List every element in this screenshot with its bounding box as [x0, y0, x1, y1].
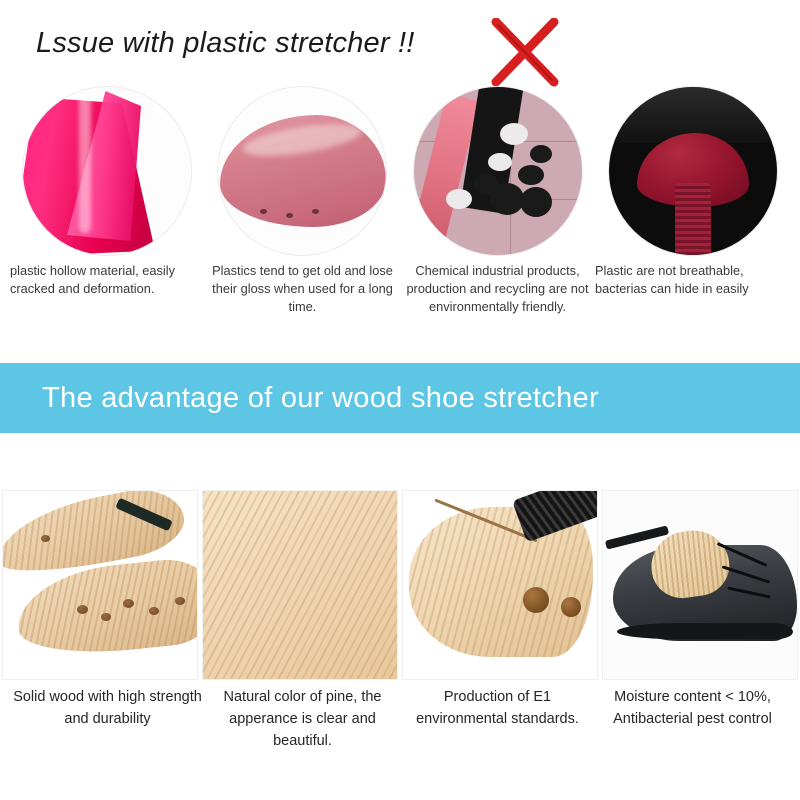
crimson-stretcher-in-shoe-photo — [608, 86, 778, 256]
wood-caption-3: Production of E1 environmental standards… — [400, 686, 595, 756]
plastic-caption-3: Chemical industrial products, production… — [400, 262, 595, 332]
wood-caption-4: Moisture content < 10%, Antibacterial pe… — [595, 686, 790, 756]
plastic-problem-section: Lssue with plastic stretcher !! — [0, 0, 800, 345]
pine-grain-closeup-photo — [202, 490, 398, 680]
plastic-image-cell-3 — [405, 86, 591, 264]
plastic-image-row — [0, 86, 800, 266]
disassembled-plastic-parts-photo — [413, 86, 583, 256]
wood-image-row — [0, 490, 800, 680]
plastic-caption-4: Plastic are not breathable, bacterias ca… — [595, 262, 790, 332]
product-infographic: Lssue with plastic stretcher !! — [0, 0, 800, 800]
plastic-caption-2: Plastics tend to get old and lose their … — [205, 262, 400, 332]
pink-plastic-stretcher-tip-photo — [217, 86, 387, 256]
banner-title: The advantage of our wood shoe stretcher — [42, 382, 599, 415]
wood-caption-1: Solid wood with high strength and durabi… — [10, 686, 205, 756]
wood-holes-and-spring-photo — [402, 490, 598, 680]
plastic-caption-row: plastic hollow material, easily cracked … — [0, 262, 800, 332]
wooden-stretcher-in-black-shoe-photo — [602, 490, 798, 680]
magenta-plastic-stretcher-photo — [22, 86, 192, 256]
plastic-image-cell-1 — [14, 86, 200, 264]
wood-caption-row: Solid wood with high strength and durabi… — [0, 686, 800, 756]
red-x-icon — [488, 18, 562, 88]
plastic-caption-1: plastic hollow material, easily cracked … — [10, 262, 205, 332]
wooden-stretcher-pair-photo — [2, 490, 198, 680]
page-title: Lssue with plastic stretcher !! — [36, 27, 415, 60]
advantage-banner: The advantage of our wood shoe stretcher — [0, 363, 800, 433]
plastic-image-cell-4 — [600, 86, 786, 264]
plastic-image-cell-2 — [209, 86, 395, 264]
wood-caption-2: Natural color of pine, the apperance is … — [205, 686, 400, 756]
